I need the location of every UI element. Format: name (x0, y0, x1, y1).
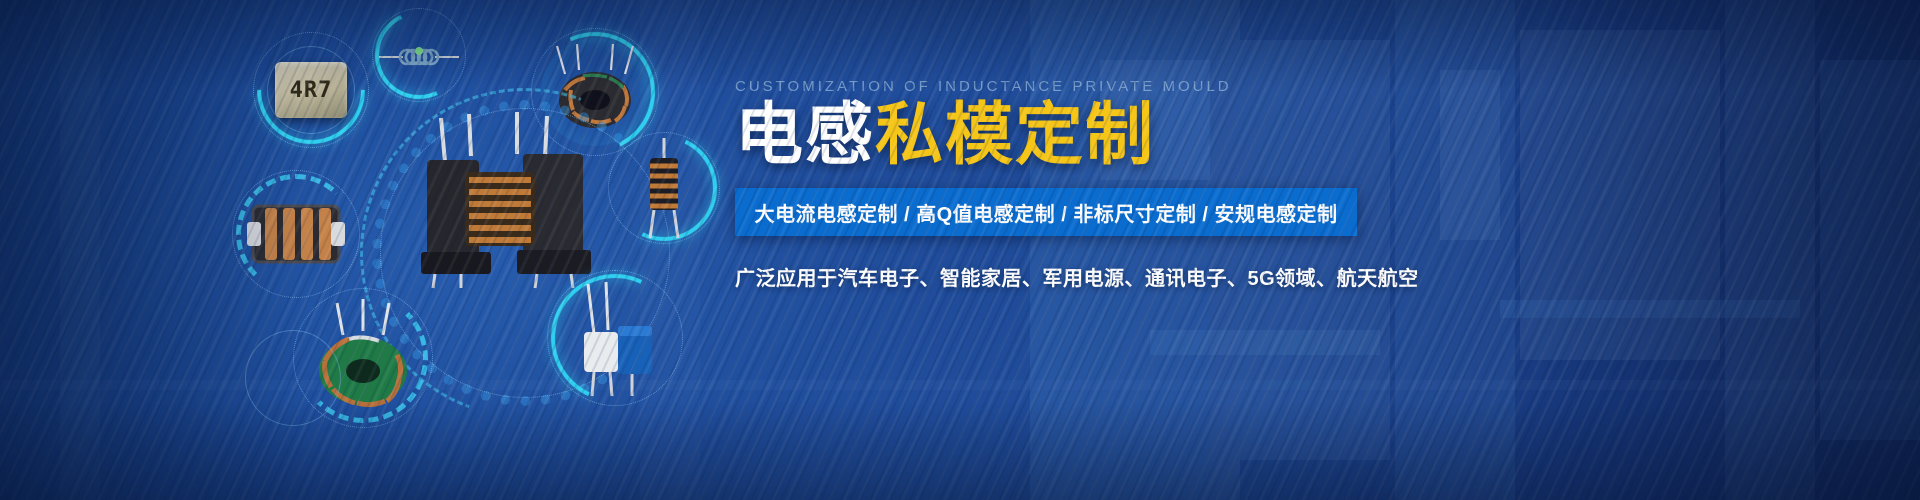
banner-headline: 电感私模定制 (735, 101, 1885, 170)
rod-inductor-body (624, 134, 704, 242)
tech-ring-decorative-bottom-left (245, 330, 341, 426)
blue-radial-inductor-body (560, 278, 670, 398)
banner-text-block: CUSTOMIZATION OF INDUCTANCE PRIVATE MOUL… (735, 78, 1885, 291)
promo-banner: 4R7 (0, 0, 1920, 500)
banner-eyebrow-english: CUSTOMIZATION OF INDUCTANCE PRIVATE MOUL… (735, 78, 1885, 95)
component-node-emi-filter-transformer (405, 110, 635, 290)
service-list-text: 大电流电感定制 / 高Q值电感定制 / 非标尺寸定制 / 安规电感定制 (754, 198, 1337, 227)
chip-marking-label: 4R7 (290, 78, 333, 103)
service-list-bar[interactable]: 大电流电感定制 / 高Q值电感定制 / 非标尺寸定制 / 安规电感定制 (735, 188, 1357, 236)
component-node-flat-wire-inductor (232, 170, 360, 298)
flat-wire-inductor-body (243, 192, 349, 276)
headline-part-white: 电感 (735, 97, 875, 173)
component-node-smd-power-inductor: 4R7 (253, 32, 369, 148)
component-node-blue-radial-inductor (547, 270, 683, 406)
air-core-coil-body (377, 35, 461, 75)
component-node-air-core-coil (372, 8, 466, 102)
banner-tagline: 广泛应用于汽车电子、智能家居、军用电源、通讯电子、5G领域、航天航空 (735, 262, 1885, 291)
smd-inductor-body: 4R7 (275, 62, 347, 118)
tech-ring-thin (245, 330, 341, 426)
headline-part-yellow: 私模定制 (875, 97, 1155, 173)
component-node-bobbin-rod-inductor (608, 132, 720, 244)
emi-transformer-body (405, 110, 635, 290)
